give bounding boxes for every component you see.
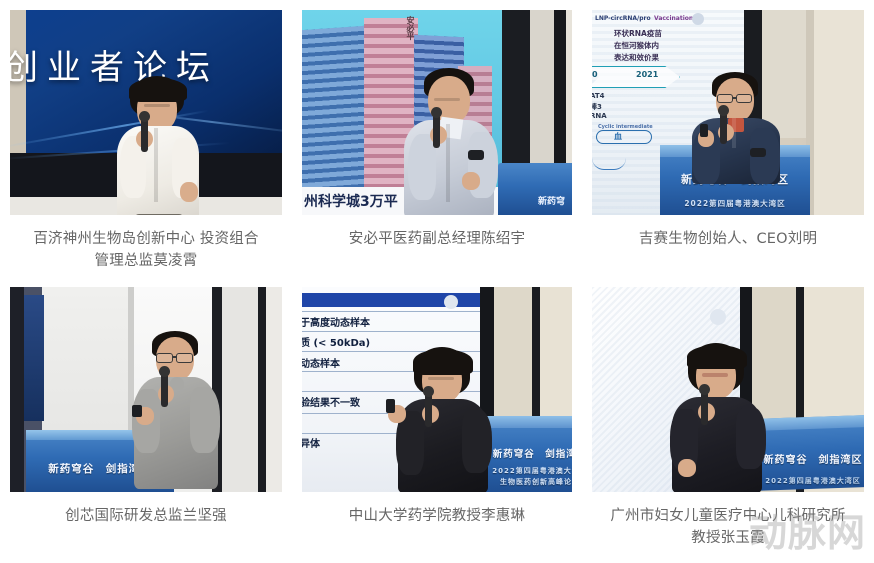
caption-line: 创芯国际研发总监兰坚强 [65, 508, 227, 524]
caption-line: 百济神州生物岛创新中心 投资组合 [33, 231, 258, 247]
gallery-item[interactable]: 创业者论坛 百济 [0, 10, 292, 282]
caption-line: 广州市妇女儿童医疗中心儿科研究所 [610, 508, 845, 524]
caption-line: 安必平医药副总经理陈绍宇 [349, 231, 525, 247]
photo-gallery-page: 创业者论坛 百济 [0, 0, 874, 563]
caption-line: 管理总监莫凌霄 [95, 253, 198, 269]
photo-5-caption: 中山大学药学院教授李惠琳 [302, 505, 572, 527]
caption-line: 吉赛生物创始人、CEO刘明 [639, 231, 817, 247]
gallery-item[interactable]: 于高度动态样本 质 (< 50kDa) 动态样本 验结果不一致 异体 新药穹谷 … [292, 287, 582, 559]
gallery-item[interactable]: 新药穹谷 剑指湾区 2022第四届粤港澳大湾区 [582, 287, 874, 559]
gallery-item[interactable]: LNP-circRNA/pro Vaccination 环状RNA疫苗 在恒河猴… [582, 10, 874, 282]
photo-1-image[interactable]: 创业者论坛 [10, 10, 282, 215]
photo-6-image[interactable]: 新药穹谷 剑指湾区 2022第四届粤港澳大湾区 [592, 287, 864, 492]
photo-3-caption: 吉赛生物创始人、CEO刘明 [592, 228, 864, 250]
photo-1-caption: 百济神州生物岛创新中心 投资组合 管理总监莫凌霄 [10, 228, 282, 272]
photo-grid: 创业者论坛 百济 [0, 0, 874, 559]
caption-line: 中山大学药学院教授李惠琳 [349, 508, 525, 524]
gallery-item[interactable]: 新药穹谷 剑指湾区 [0, 287, 292, 559]
photo-5-image[interactable]: 于高度动态样本 质 (< 50kDa) 动态样本 验结果不一致 异体 新药穹谷 … [302, 287, 572, 492]
caption-line: 教授张玉霞 [691, 530, 765, 546]
photo-3-image[interactable]: LNP-circRNA/pro Vaccination 环状RNA疫苗 在恒河猴… [592, 10, 864, 215]
gallery-item[interactable]: 州科学城3万平 安必平 新药穹 [292, 10, 582, 282]
photo-6-caption: 广州市妇女儿童医疗中心儿科研究所 教授张玉霞 [592, 505, 864, 549]
photo-4-image[interactable]: 新药穹谷 剑指湾区 [10, 287, 282, 492]
photo-2-caption: 安必平医药副总经理陈绍宇 [302, 228, 572, 250]
photo-4-caption: 创芯国际研发总监兰坚强 [10, 505, 282, 527]
photo-2-image[interactable]: 州科学城3万平 安必平 新药穹 [302, 10, 572, 215]
